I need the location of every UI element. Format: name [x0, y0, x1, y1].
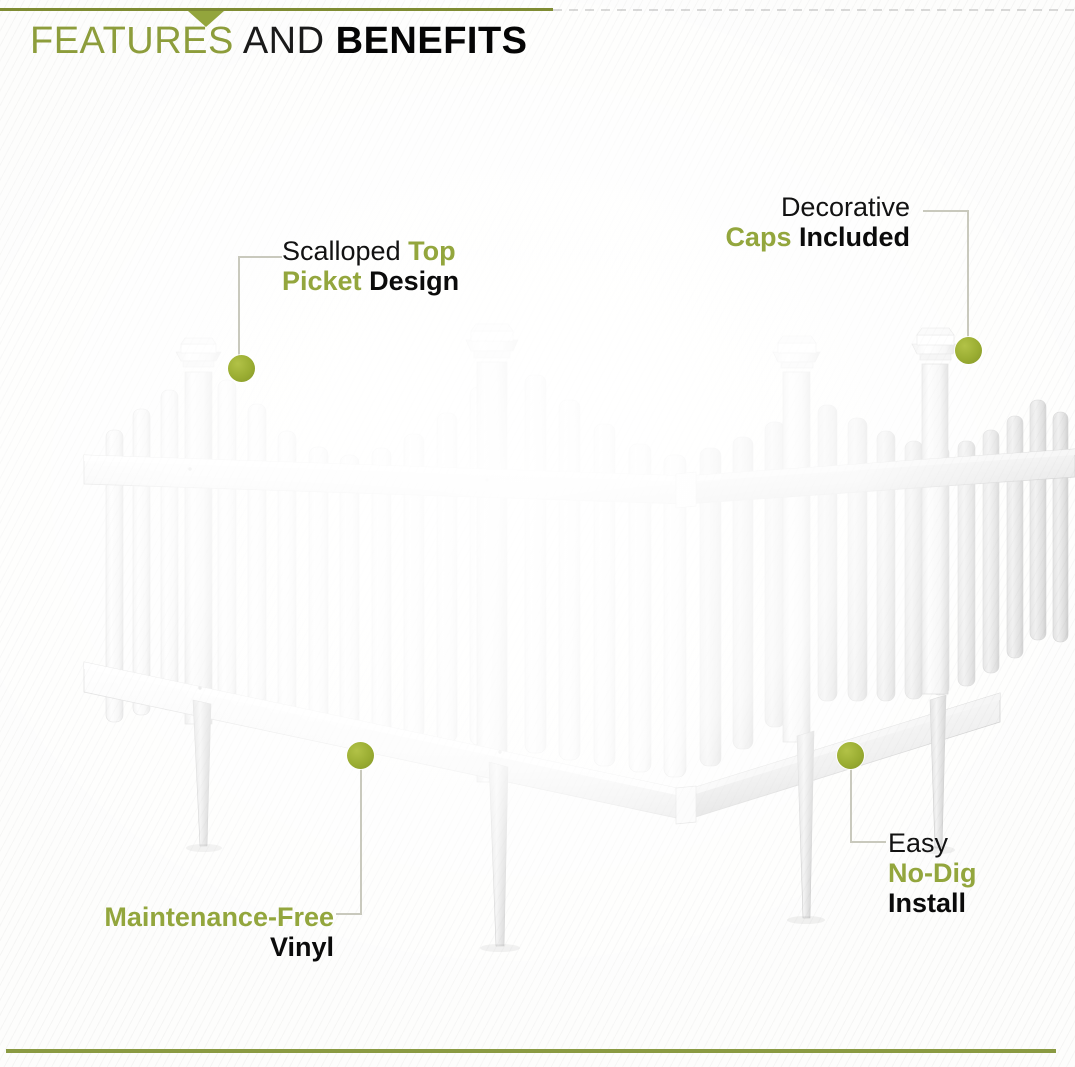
callout-easy-line-2: No-Dig	[888, 858, 976, 888]
header-rule-solid	[0, 8, 553, 11]
page-title: FEATURES AND BENEFITS	[30, 22, 528, 60]
callout-picket-accent: Picket	[282, 266, 362, 296]
callout-maintenance-line-2: Vinyl	[84, 932, 334, 962]
marker-dot-maintenance	[347, 742, 374, 769]
infographic-page: FEATURES AND BENEFITS Scalloped Top Pick…	[0, 0, 1075, 1067]
page-title-accent: FEATURES	[30, 20, 234, 62]
callout-maintenance-accent: Maintenance-Free	[104, 902, 334, 932]
callout-scalloped-line-1: Scalloped Top	[282, 236, 459, 266]
page-title-conjunction: AND	[234, 20, 336, 62]
callout-scalloped-plain: Scalloped	[282, 236, 401, 266]
callout-scalloped-accent: Top	[408, 236, 455, 266]
callout-vinyl-bold: Vinyl	[270, 932, 334, 962]
callout-maintenance-line-1: Maintenance-Free	[84, 902, 334, 932]
callout-easy-line-1: Easy	[888, 828, 976, 858]
marker-dot-scalloped	[228, 355, 255, 382]
callout-decorative-plain: Decorative	[781, 192, 910, 222]
callout-decorative-caps-included: Decorative Caps Included	[725, 192, 910, 252]
callout-scalloped-line-2: Picket Design	[282, 266, 459, 296]
callout-design-bold: Design	[369, 266, 459, 296]
callout-caps-line-1: Decorative	[725, 192, 910, 222]
header-rule-dashed	[553, 9, 1075, 11]
callout-maintenance-free-vinyl: Maintenance-Free Vinyl	[84, 902, 334, 962]
callout-easy-line-3: Install	[888, 888, 976, 918]
marker-dot-caps	[955, 337, 982, 364]
marker-dot-nodig	[837, 742, 864, 769]
callout-included-bold: Included	[799, 222, 910, 252]
page-title-bold: BENEFITS	[336, 20, 528, 62]
callout-easy-plain: Easy	[888, 828, 948, 858]
callout-install-bold: Install	[888, 888, 966, 918]
callout-easy-no-dig-install: Easy No-Dig Install	[888, 828, 976, 919]
callout-scalloped-top-picket-design: Scalloped Top Picket Design	[282, 236, 459, 296]
callout-caps-line-2: Caps Included	[725, 222, 910, 252]
callout-caps-accent: Caps	[725, 222, 791, 252]
footer-rule	[6, 1049, 1056, 1053]
callout-nodig-accent: No-Dig	[888, 858, 976, 888]
